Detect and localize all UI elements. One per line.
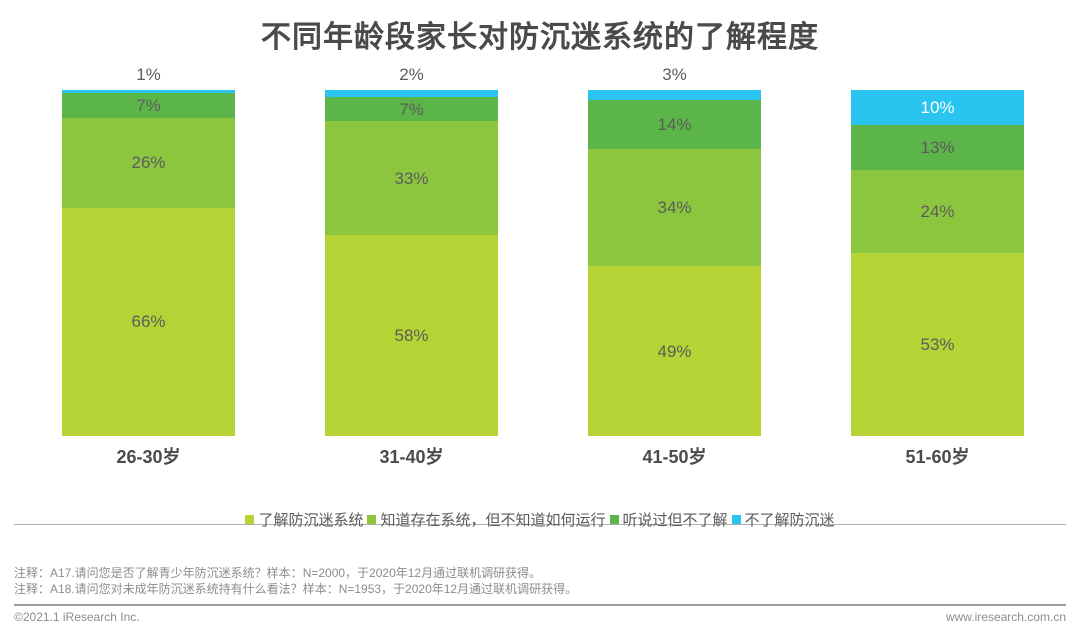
- bar-value-label: 26%: [131, 154, 165, 171]
- chart-page: 不同年龄段家长对防沉迷系统的了解程度 1%7%26%66% 2%7%33%58%…: [0, 0, 1080, 638]
- chart-legend: 了解防沉迷系统知道存在系统，但不知道如何运行听说过但不了解不了解防沉迷: [0, 509, 1080, 530]
- bar-stack-3: 10%13%24%53%: [851, 90, 1024, 436]
- category-label-1: 31-40岁: [325, 443, 498, 469]
- bar-stack-1: 2%7%33%58%: [325, 90, 498, 436]
- bar-segment[interactable]: 7%: [62, 93, 235, 117]
- bar-segment[interactable]: 58%: [325, 235, 498, 436]
- footnote-line-1: 注释：A18.请问您对未成年防沉迷系统持有什么看法？样本：N=1953，于202…: [14, 581, 1014, 597]
- legend-item-0[interactable]: 了解防沉迷系统: [245, 509, 363, 530]
- bar-value-label: 13%: [920, 139, 954, 156]
- category-label-3: 51-60岁: [851, 443, 1024, 469]
- footer-divider: [14, 604, 1066, 606]
- legend-swatch-icon: [245, 515, 254, 524]
- bar-segment[interactable]: 34%: [588, 149, 761, 267]
- bar-segment[interactable]: 7%: [325, 97, 498, 121]
- copyright-text: ©2021.1 iResearch Inc.: [14, 610, 140, 624]
- category-label-0: 26-30岁: [62, 443, 235, 469]
- bar-value-label: 66%: [131, 313, 165, 330]
- legend-item-2[interactable]: 听说过但不了解: [610, 509, 728, 530]
- bar-group-2[interactable]: 3%14%34%49%: [588, 90, 761, 436]
- bar-segment[interactable]: 14%: [588, 100, 761, 148]
- bar-value-label: 33%: [394, 170, 428, 187]
- bar-value-label: 2%: [325, 66, 498, 83]
- bar-segment[interactable]: 13%: [851, 125, 1024, 170]
- footnote-line-0: 注释：A17.请问您是否了解青少年防沉迷系统？样本：N=2000，于2020年1…: [14, 565, 1014, 581]
- bar-value-label: 3%: [588, 66, 761, 83]
- plot-area: 1%7%26%66% 2%7%33%58% 3%14%34%49% 10%13%…: [0, 90, 1080, 436]
- legend-item-1[interactable]: 知道存在系统，但不知道如何运行: [367, 509, 605, 530]
- bar-value-label: 53%: [920, 336, 954, 353]
- bar-stack-0: 1%7%26%66%: [62, 90, 235, 436]
- category-axis: 26-30岁 31-40岁 41-50岁 51-60岁: [0, 443, 1080, 477]
- bar-value-label: 7%: [136, 97, 161, 114]
- legend-swatch-icon: [610, 515, 619, 524]
- legend-label: 知道存在系统，但不知道如何运行: [380, 509, 605, 530]
- bar-value-label: 24%: [920, 203, 954, 220]
- legend-label: 了解防沉迷系统: [258, 509, 363, 530]
- bar-segment[interactable]: 66%: [62, 208, 235, 436]
- legend-label: 听说过但不了解: [623, 509, 728, 530]
- bar-stack-2: 3%14%34%49%: [588, 90, 761, 436]
- bar-group-0[interactable]: 1%7%26%66%: [62, 90, 235, 436]
- bar-value-label: 14%: [657, 116, 691, 133]
- legend-label: 不了解防沉迷: [745, 509, 835, 530]
- footnotes: 注释：A17.请问您是否了解青少年防沉迷系统？样本：N=2000，于2020年1…: [14, 565, 1014, 597]
- bar-group-3[interactable]: 10%13%24%53%: [851, 90, 1024, 436]
- category-label-2: 41-50岁: [588, 443, 761, 469]
- legend-item-3[interactable]: 不了解防沉迷: [732, 509, 835, 530]
- page-title: 不同年龄段家长对防沉迷系统的了解程度: [0, 12, 1080, 56]
- bar-segment[interactable]: 53%: [851, 253, 1024, 436]
- bar-value-label: 7%: [399, 101, 424, 118]
- bar-segment[interactable]: 3%: [588, 90, 761, 100]
- bar-segment[interactable]: 26%: [62, 118, 235, 208]
- bar-value-label: 1%: [62, 66, 235, 83]
- bar-value-label: 34%: [657, 199, 691, 216]
- bar-segment[interactable]: 49%: [588, 266, 761, 436]
- bar-segment[interactable]: 2%: [325, 90, 498, 97]
- legend-swatch-icon: [732, 515, 741, 524]
- bar-segment[interactable]: 24%: [851, 170, 1024, 253]
- bar-value-label: 10%: [920, 99, 954, 116]
- bar-value-label: 49%: [657, 343, 691, 360]
- bar-segment[interactable]: 33%: [325, 121, 498, 235]
- bar-value-label: 58%: [394, 327, 428, 344]
- legend-swatch-icon: [367, 515, 376, 524]
- footer: ©2021.1 iResearch Inc. www.iresearch.com…: [14, 610, 1066, 624]
- bar-group-1[interactable]: 2%7%33%58%: [325, 90, 498, 436]
- bar-segment[interactable]: 10%: [851, 90, 1024, 125]
- website-url[interactable]: www.iresearch.com.cn: [946, 610, 1066, 624]
